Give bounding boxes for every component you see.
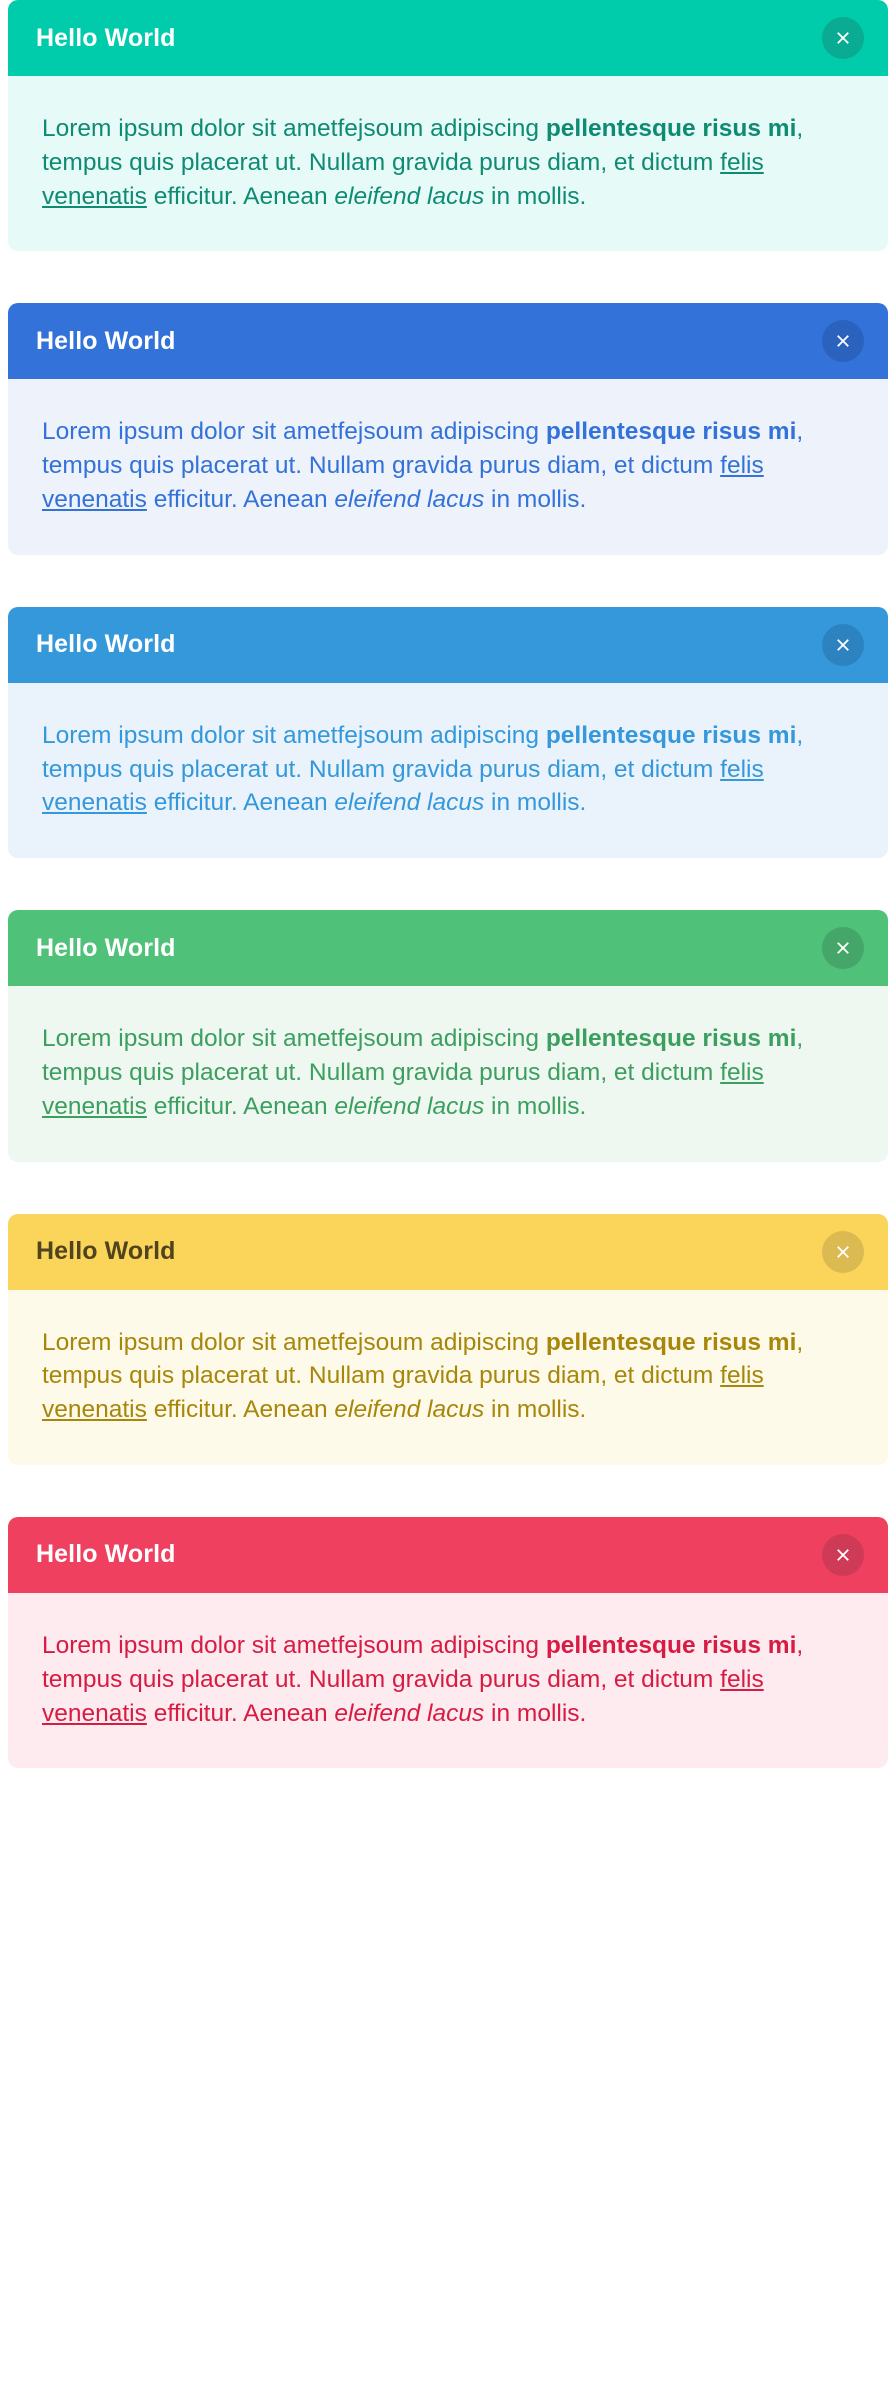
alert-title: Hello World — [36, 1542, 176, 1567]
alert-message: Lorem ipsum dolor sit ametfejsoum adipis… — [42, 1326, 854, 1427]
message-text-tail: in mollis. — [484, 1700, 586, 1727]
message-bold: pellentesque risus mi — [546, 418, 797, 445]
alert-message: Lorem ipsum dolor sit ametfejsoum adipis… — [42, 719, 854, 820]
close-x-icon — [835, 637, 851, 653]
alert-title: Hello World — [36, 632, 176, 657]
alert-message: Lorem ipsum dolor sit ametfejsoum adipis… — [42, 1022, 854, 1123]
message-text-lead: Lorem ipsum dolor sit ametfejsoum adipis… — [42, 1632, 546, 1659]
message-text-lead: Lorem ipsum dolor sit ametfejsoum adipis… — [42, 722, 546, 749]
alert-card: Hello WorldLorem ipsum dolor sit ametfej… — [8, 1517, 888, 1768]
message-bold: pellentesque risus mi — [546, 1329, 797, 1356]
close-button[interactable] — [822, 1231, 864, 1273]
close-x-icon — [835, 940, 851, 956]
alert-title: Hello World — [36, 936, 176, 961]
message-text-tail: in mollis. — [484, 183, 586, 210]
message-italic: eleifend lacus — [334, 1700, 484, 1727]
message-bold: pellentesque risus mi — [546, 722, 797, 749]
message-bold: pellentesque risus mi — [546, 1025, 797, 1052]
alert-title: Hello World — [36, 26, 176, 51]
message-text-lead: Lorem ipsum dolor sit ametfejsoum adipis… — [42, 115, 546, 142]
alert-header: Hello World — [8, 910, 888, 986]
alert-message: Lorem ipsum dolor sit ametfejsoum adipis… — [42, 112, 854, 213]
message-bold: pellentesque risus mi — [546, 1632, 797, 1659]
message-text-after-link: efficitur. Aenean — [147, 1093, 335, 1120]
message-italic: eleifend lacus — [334, 1093, 484, 1120]
alert-title: Hello World — [36, 329, 176, 354]
message-text-tail: in mollis. — [484, 1396, 586, 1423]
close-button[interactable] — [822, 624, 864, 666]
alert-message: Lorem ipsum dolor sit ametfejsoum adipis… — [42, 1629, 854, 1730]
alert-stack: Hello WorldLorem ipsum dolor sit ametfej… — [8, 0, 888, 1768]
close-button[interactable] — [822, 320, 864, 362]
message-italic: eleifend lacus — [334, 1396, 484, 1423]
close-x-icon — [835, 1244, 851, 1260]
message-italic: eleifend lacus — [334, 183, 484, 210]
alert-message: Lorem ipsum dolor sit ametfejsoum adipis… — [42, 415, 854, 516]
alert-header: Hello World — [8, 1214, 888, 1290]
alert-header: Hello World — [8, 0, 888, 76]
message-text-tail: in mollis. — [484, 789, 586, 816]
message-text-after-link: efficitur. Aenean — [147, 789, 335, 816]
alert-card: Hello WorldLorem ipsum dolor sit ametfej… — [8, 0, 888, 251]
close-button[interactable] — [822, 927, 864, 969]
alert-title: Hello World — [36, 1239, 176, 1264]
message-italic: eleifend lacus — [334, 486, 484, 513]
alert-header: Hello World — [8, 607, 888, 683]
message-text-tail: in mollis. — [484, 486, 586, 513]
message-text-after-link: efficitur. Aenean — [147, 183, 335, 210]
message-text-lead: Lorem ipsum dolor sit ametfejsoum adipis… — [42, 418, 546, 445]
message-italic: eleifend lacus — [334, 789, 484, 816]
close-x-icon — [835, 333, 851, 349]
alert-body: Lorem ipsum dolor sit ametfejsoum adipis… — [8, 683, 888, 858]
message-text-lead: Lorem ipsum dolor sit ametfejsoum adipis… — [42, 1025, 546, 1052]
alert-card: Hello WorldLorem ipsum dolor sit ametfej… — [8, 910, 888, 1161]
alert-header: Hello World — [8, 303, 888, 379]
message-text-lead: Lorem ipsum dolor sit ametfejsoum adipis… — [42, 1329, 546, 1356]
message-text-tail: in mollis. — [484, 1093, 586, 1120]
alert-card: Hello WorldLorem ipsum dolor sit ametfej… — [8, 303, 888, 554]
alert-body: Lorem ipsum dolor sit ametfejsoum adipis… — [8, 986, 888, 1161]
alert-body: Lorem ipsum dolor sit ametfejsoum adipis… — [8, 379, 888, 554]
alert-body: Lorem ipsum dolor sit ametfejsoum adipis… — [8, 1593, 888, 1768]
alert-header: Hello World — [8, 1517, 888, 1593]
alert-card: Hello WorldLorem ipsum dolor sit ametfej… — [8, 607, 888, 858]
close-x-icon — [835, 30, 851, 46]
alert-card: Hello WorldLorem ipsum dolor sit ametfej… — [8, 1214, 888, 1465]
close-button[interactable] — [822, 1534, 864, 1576]
close-x-icon — [835, 1547, 851, 1563]
message-text-after-link: efficitur. Aenean — [147, 1700, 335, 1727]
message-text-after-link: efficitur. Aenean — [147, 1396, 335, 1423]
alert-body: Lorem ipsum dolor sit ametfejsoum adipis… — [8, 1290, 888, 1465]
message-bold: pellentesque risus mi — [546, 115, 797, 142]
message-text-after-link: efficitur. Aenean — [147, 486, 335, 513]
close-button[interactable] — [822, 17, 864, 59]
alert-body: Lorem ipsum dolor sit ametfejsoum adipis… — [8, 76, 888, 251]
